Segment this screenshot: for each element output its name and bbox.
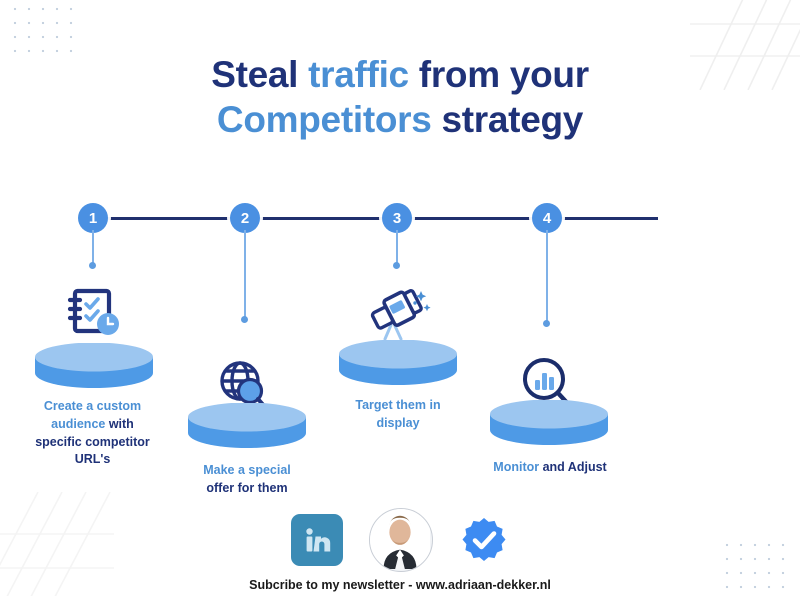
caption-2-part-2: offer for them xyxy=(206,481,287,495)
infographic-canvas: Steal traffic from your Competitors stra… xyxy=(0,0,800,596)
step-caption-3: Target them in display xyxy=(323,397,473,433)
connector-line-1 xyxy=(92,230,94,266)
footer-newsletter-text: Subcribe to my newsletter - www.adriaan-… xyxy=(0,578,800,592)
step-marker-2[interactable]: 2 xyxy=(230,203,260,233)
step-marker-1[interactable]: 1 xyxy=(78,203,108,233)
dot-grid-decoration-top-left xyxy=(8,2,82,54)
caption-3-part-1: Target them in xyxy=(355,398,440,412)
caption-1-part-1: Create a custom xyxy=(44,399,141,413)
linkedin-icon[interactable] xyxy=(291,514,343,566)
step-number-3: 3 xyxy=(393,210,401,227)
title-highlight-traffic: traffic xyxy=(308,54,409,95)
caption-1-part-2: audience xyxy=(51,417,109,431)
title-line-2: Competitors strategy xyxy=(0,97,800,142)
title-line-1: Steal traffic from your xyxy=(0,52,800,97)
caption-4-part-1: Monitor xyxy=(493,460,542,474)
footer-icon-row xyxy=(0,508,800,572)
caption-4-part-2: and Adjust xyxy=(543,460,607,474)
connector-dot-4 xyxy=(543,320,550,327)
pedestal-2 xyxy=(186,403,308,451)
step-number-4: 4 xyxy=(543,210,551,227)
connector-dot-1 xyxy=(89,262,96,269)
connector-line-3 xyxy=(396,230,398,266)
title-segment-3: strategy xyxy=(432,99,584,140)
timeline-segment-4 xyxy=(560,217,658,220)
page-title: Steal traffic from your Competitors stra… xyxy=(0,52,800,142)
pedestal-3 xyxy=(337,340,459,388)
connector-dot-3 xyxy=(393,262,400,269)
connector-dot-2 xyxy=(241,316,248,323)
step-number-2: 2 xyxy=(241,210,249,227)
pedestal-4 xyxy=(488,400,610,448)
title-highlight-competitors: Competitors xyxy=(217,99,432,140)
step-number-1: 1 xyxy=(89,210,97,227)
linkedin-glyph xyxy=(301,524,333,556)
step-caption-2: Make a special offer for them xyxy=(172,462,322,498)
step-caption-4: Monitor and Adjust xyxy=(466,459,634,477)
notebook-checklist-clock-icon xyxy=(58,286,130,342)
profile-avatar[interactable] xyxy=(369,508,433,572)
caption-1-part-5: URL's xyxy=(75,452,111,466)
title-segment-1: Steal xyxy=(211,54,308,95)
timeline-segment-2 xyxy=(258,217,391,220)
connector-line-2 xyxy=(244,230,246,320)
avatar-photo xyxy=(370,509,430,569)
timeline-segment-3 xyxy=(410,217,538,220)
step-caption-1: Create a custom audience with specific c… xyxy=(10,398,175,469)
step-marker-3[interactable]: 3 xyxy=(382,203,412,233)
verified-glyph xyxy=(460,516,508,564)
timeline-segment-1 xyxy=(105,217,238,220)
caption-1-part-4: specific competitor xyxy=(35,435,150,449)
step-marker-4[interactable]: 4 xyxy=(532,203,562,233)
telescope-icon xyxy=(365,285,435,343)
caption-1-part-3: with xyxy=(109,417,134,431)
title-segment-2: from your xyxy=(409,54,589,95)
pedestal-1 xyxy=(33,343,155,391)
connector-line-4 xyxy=(546,230,548,324)
caption-3-part-2: display xyxy=(376,416,419,430)
verified-badge-icon[interactable] xyxy=(459,515,509,565)
caption-2-part-1: Make a special xyxy=(203,463,291,477)
